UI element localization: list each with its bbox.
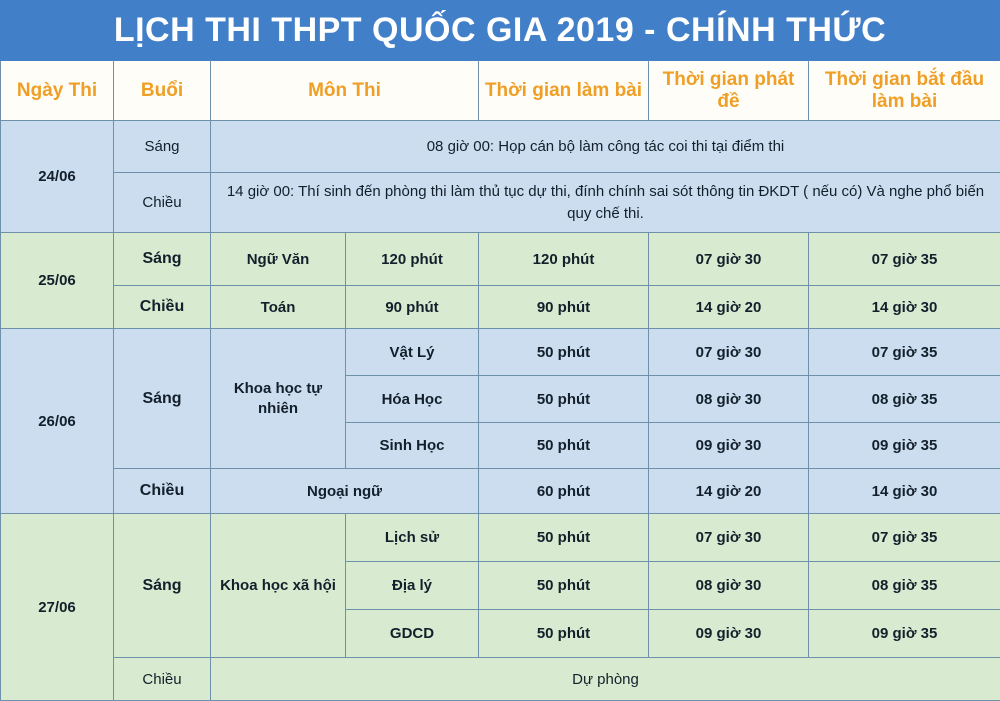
issue-time-cell: 09 giờ 30 [649, 423, 809, 469]
start-time-cell: 07 giờ 35 [809, 329, 1000, 376]
subject-cell: Lịch sử [346, 514, 479, 562]
duration-cell: 50 phút [479, 376, 649, 423]
col-header-buoi: Buổi [114, 61, 211, 121]
issue-time-cell: 08 giờ 30 [649, 562, 809, 610]
session-cell: Sáng [114, 233, 211, 286]
issue-time-cell: 07 giờ 30 [649, 514, 809, 562]
table-row: 25/06 Sáng Ngữ Văn 120 phút 120 phút 07 … [1, 233, 1000, 286]
duration-cell: 50 phút [479, 514, 649, 562]
subject-cell: Ngữ Văn [211, 233, 346, 286]
duration-cell: 50 phút [479, 562, 649, 610]
note-cell: 08 giờ 00: Họp cán bộ làm công tác coi t… [211, 121, 1000, 173]
subject-cell: Sinh Học [346, 423, 479, 469]
col-header-ngay-thi: Ngày Thi [1, 61, 114, 121]
table-row: Chiều Toán 90 phút 90 phút 14 giờ 20 14 … [1, 286, 1000, 329]
day-cell-2: 26/06 [1, 329, 114, 514]
start-time-cell: 08 giờ 35 [809, 562, 1000, 610]
subject-cell: Ngoại ngữ [211, 469, 479, 514]
subject-cell: Địa lý [346, 562, 479, 610]
subject-cell: Vật Lý [346, 329, 479, 376]
note-cell: 14 giờ 00: Thí sinh đến phòng thi làm th… [211, 173, 1000, 233]
duration-cell: 120 phút [346, 233, 479, 286]
session-cell: Chiều [114, 173, 211, 233]
page-title-banner: LỊCH THI THPT QUỐC GIA 2019 - CHÍNH THỨC [0, 0, 1000, 60]
subject-cell: Toán [211, 286, 346, 329]
start-time-cell: 07 giờ 35 [809, 514, 1000, 562]
subject-cell: GDCD [346, 610, 479, 658]
subject-group-cell: Khoa học xã hội [211, 514, 346, 658]
page-title: LỊCH THI THPT QUỐC GIA 2019 - CHÍNH THỨC [114, 13, 886, 47]
col-header-tg-bat-dau: Thời gian bắt đầu làm bài [809, 61, 1000, 121]
duration-cell: 50 phút [479, 329, 649, 376]
table-row: Chiều Ngoại ngữ 60 phút 14 giờ 20 14 giờ… [1, 469, 1000, 514]
session-cell: Chiều [114, 286, 211, 329]
duration-cell: 50 phút [479, 423, 649, 469]
exam-schedule-table: Ngày Thi Buổi Môn Thi Thời gian làm bài … [0, 60, 1000, 701]
start-time-cell: 09 giờ 35 [809, 610, 1000, 658]
duration-cell: 90 phút [346, 286, 479, 329]
table-row: 26/06 Sáng Khoa học tự nhiên Vật Lý 50 p… [1, 329, 1000, 376]
session-cell: Sáng [114, 121, 211, 173]
note-cell: Dự phòng [211, 658, 1000, 701]
start-time-cell: 08 giờ 35 [809, 376, 1000, 423]
start-time-cell: 09 giờ 35 [809, 423, 1000, 469]
day-cell-0: 24/06 [1, 121, 114, 233]
session-cell: Sáng [114, 329, 211, 469]
handout-cell: 90 phút [479, 286, 649, 329]
day-cell-1: 25/06 [1, 233, 114, 329]
handout-cell: 120 phút [479, 233, 649, 286]
col-header-mon-thi: Môn Thi [211, 61, 479, 121]
table-row: 24/06 Sáng 08 giờ 00: Họp cán bộ làm côn… [1, 121, 1000, 173]
issue-time-cell: 09 giờ 30 [649, 610, 809, 658]
start-time-cell: 14 giờ 30 [809, 286, 1000, 329]
session-cell: Chiều [114, 469, 211, 514]
subject-cell: Hóa Học [346, 376, 479, 423]
issue-time-cell: 14 giờ 20 [649, 469, 809, 514]
issue-time-cell: 07 giờ 30 [649, 233, 809, 286]
issue-time-cell: 07 giờ 30 [649, 329, 809, 376]
issue-time-cell: 08 giờ 30 [649, 376, 809, 423]
duration-cell: 50 phút [479, 610, 649, 658]
session-cell: Sáng [114, 514, 211, 658]
duration-cell: 60 phút [479, 469, 649, 514]
table-row: Chiều Dự phòng [1, 658, 1000, 701]
table-row: Chiều 14 giờ 00: Thí sinh đến phòng thi … [1, 173, 1000, 233]
start-time-cell: 14 giờ 30 [809, 469, 1000, 514]
col-header-tg-phat-de: Thời gian phát đề [649, 61, 809, 121]
subject-group-cell: Khoa học tự nhiên [211, 329, 346, 469]
table-header-row: Ngày Thi Buổi Môn Thi Thời gian làm bài … [1, 61, 1000, 121]
col-header-tg-lam-bai: Thời gian làm bài [479, 61, 649, 121]
table-row: 27/06 Sáng Khoa học xã hội Lịch sử 50 ph… [1, 514, 1000, 562]
session-cell: Chiều [114, 658, 211, 701]
day-cell-3: 27/06 [1, 514, 114, 701]
issue-time-cell: 14 giờ 20 [649, 286, 809, 329]
start-time-cell: 07 giờ 35 [809, 233, 1000, 286]
exam-schedule-sheet: LỊCH THI THPT QUỐC GIA 2019 - CHÍNH THỨC… [0, 0, 1000, 700]
